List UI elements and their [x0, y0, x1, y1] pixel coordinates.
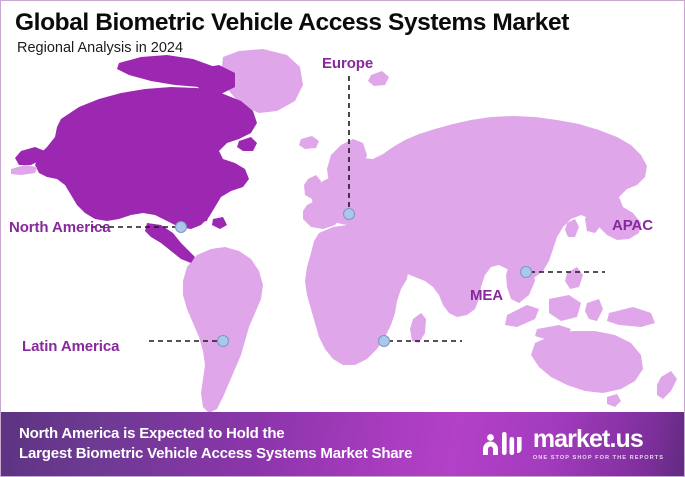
landmass-borneo: [549, 295, 581, 321]
footer-banner: North America is Expected to Hold the La…: [1, 412, 685, 476]
region-label-europe: Europe: [322, 55, 373, 72]
landmass-north-america: [35, 87, 257, 229]
market-us-logo-icon: [480, 429, 524, 459]
landmass-africa: [305, 225, 409, 365]
region-label-latin-america: Latin America: [22, 338, 119, 355]
marker-latin-america[interactable]: [218, 336, 229, 347]
page-title: Global Biometric Vehicle Access Systems …: [15, 9, 670, 36]
landmass-sulawesi: [585, 299, 603, 321]
landmass-tasmania: [607, 394, 621, 407]
region-label-north-america: North America: [9, 219, 111, 236]
banner-message: North America is Expected to Hold the La…: [19, 424, 412, 464]
landmass-new-zealand: [657, 371, 677, 399]
logo-tagline: ONE STOP SHOP FOR THE REPORTS: [533, 455, 664, 461]
marker-north-america[interactable]: [176, 222, 187, 233]
landmass-group-highlight: [11, 55, 257, 229]
landmass-south-america: [183, 247, 263, 413]
landmass-australia: [531, 331, 643, 393]
infographic-root: Global Biometric Vehicle Access Systems …: [0, 0, 685, 477]
region-label-mea: MEA: [470, 287, 503, 304]
landmass-new-guinea: [607, 307, 655, 327]
landmass-newfoundland: [237, 137, 257, 151]
landmass-southeast-asia: [506, 261, 535, 303]
landmass-sumatra: [505, 305, 539, 327]
market-us-logo[interactable]: market.us ONE STOP SHOP FOR THE REPORTS: [480, 427, 670, 461]
landmass-central-america: [145, 223, 195, 263]
region-label-apac: APAC: [612, 217, 653, 234]
banner-message-line-1: North America is Expected to Hold the: [19, 424, 412, 444]
header: Global Biometric Vehicle Access Systems …: [15, 9, 670, 57]
logo-wordmark: market.us ONE STOP SHOP FOR THE REPORTS: [533, 427, 664, 461]
landmass-aleutian-islands: [11, 165, 37, 175]
page-subtitle: Regional Analysis in 2024: [17, 41, 670, 57]
marker-mea[interactable]: [379, 336, 390, 347]
marker-apac[interactable]: [521, 267, 532, 278]
logo-name: market.us: [533, 427, 643, 452]
landmass-philippines: [565, 267, 583, 289]
marker-europe[interactable]: [344, 209, 355, 220]
landmass-madagascar: [410, 313, 426, 343]
landmass-iceland: [299, 136, 319, 149]
landmass-lesser-antilles: [212, 217, 227, 229]
banner-message-line-2: Largest Biometric Vehicle Access Systems…: [19, 444, 412, 464]
landmass-svalbard: [368, 71, 389, 86]
